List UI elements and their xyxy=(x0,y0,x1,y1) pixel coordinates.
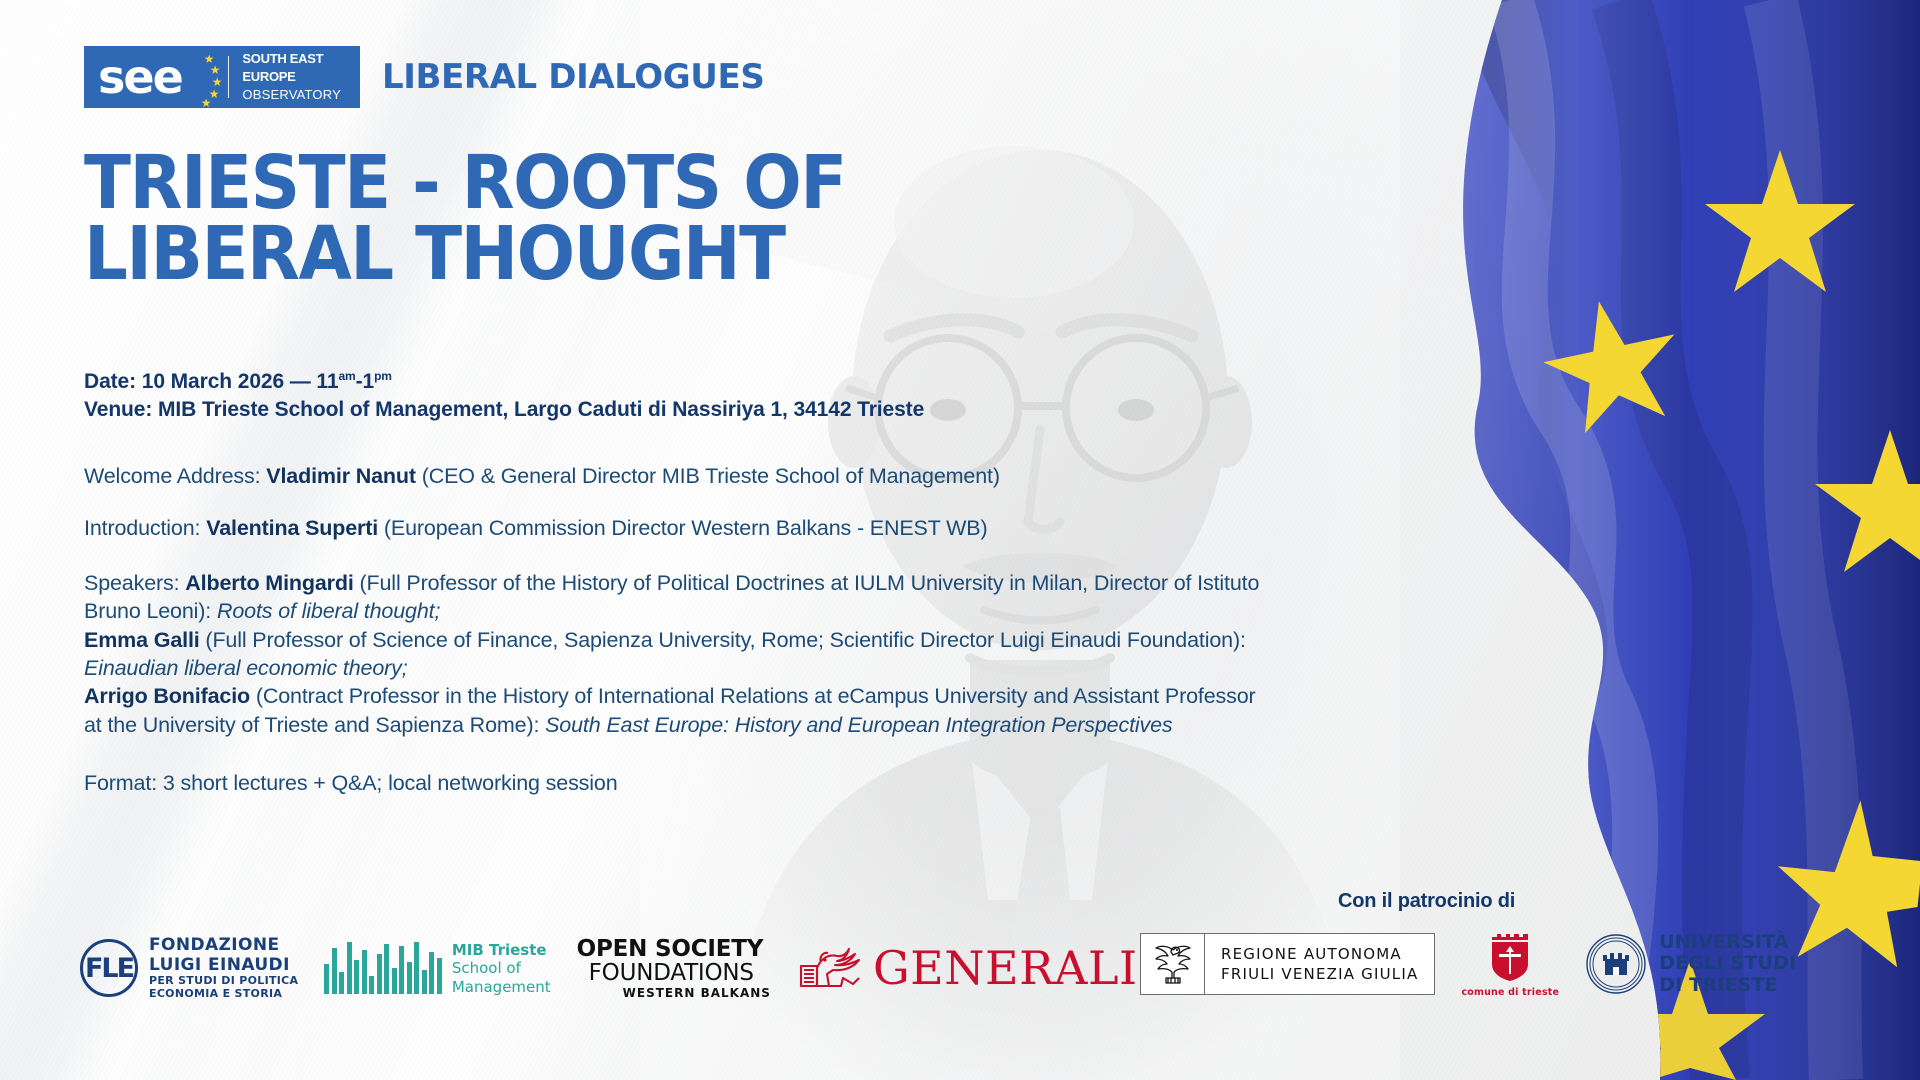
logo-divider xyxy=(228,56,230,98)
date-value: 10 March 2026 — 11 xyxy=(142,370,339,393)
intro-label: Introduction: xyxy=(84,516,206,540)
speaker-1-topic: Roots of liberal thought; xyxy=(217,599,440,623)
event-meta: Date: 10 March 2026 — 11am-1pm Venue: MI… xyxy=(84,368,924,423)
page-title: TRIESTE - ROOTS OF LIBERAL THOUGHT xyxy=(84,148,846,290)
welcome-speaker-name: Vladimir Nanut xyxy=(266,464,416,488)
mib-line3: Management xyxy=(452,978,551,996)
generali-logo: GENERALI xyxy=(797,941,1138,995)
patronage-logos: REGIONE AUTONOMA FRIULI VENEZIA GIULIA c… xyxy=(1140,930,1796,998)
mib-bars-icon xyxy=(324,942,442,994)
fle-line4: ECONOMIA E STORIA xyxy=(149,988,298,1001)
mib-trieste-logo: MIB Trieste School of Management xyxy=(324,941,550,996)
mib-line2: School of xyxy=(452,959,551,977)
see-subtitle-line1: SOUTH EAST EUROPE xyxy=(242,51,323,84)
speakers-label: Speakers: xyxy=(84,571,185,595)
title-line-2: LIBERAL THOUGHT xyxy=(84,219,846,290)
universita-wordmark: UNIVERSITÀ DEGLI STUDI DI TRIESTE xyxy=(1659,932,1796,997)
see-subtitle-line2: OBSERVATORY xyxy=(242,87,341,102)
welcome-speaker-role: (CEO & General Director MIB Trieste Scho… xyxy=(416,464,1000,488)
welcome-label: Welcome Address: xyxy=(84,464,266,488)
event-format: Format: 3 short lectures + Q&A; local ne… xyxy=(84,769,1264,797)
regione-fvg-logo: REGIONE AUTONOMA FRIULI VENEZIA GIULIA xyxy=(1140,933,1435,995)
poster-header: see ★ ★ ★ ★ ★ SOUTH EAST EUROPE OBSERVAT… xyxy=(84,46,764,108)
speakers-block: Speakers: Alberto Mingardi (Full Profess… xyxy=(84,569,1264,739)
date-mid: -1 xyxy=(356,370,374,393)
universita-line2: DEGLI STUDI xyxy=(1659,953,1796,975)
title-line-1: TRIESTE - ROOTS OF xyxy=(84,148,846,219)
fle-wordmark: FONDAZIONE LUIGI EINAUDI PER STUDI DI PO… xyxy=(149,936,298,1001)
welcome-address-line: Welcome Address: Vladimir Nanut (CEO & G… xyxy=(84,462,1264,490)
regione-wordmark: REGIONE AUTONOMA FRIULI VENEZIA GIULIA xyxy=(1205,934,1434,994)
fle-monogram-icon: FLE xyxy=(80,939,138,997)
generali-wordmark: GENERALI xyxy=(873,941,1138,995)
event-date: Date: 10 March 2026 — 11am-1pm xyxy=(84,368,924,396)
universita-trieste-logo: UNIVERSITÀ DEGLI STUDI DI TRIESTE xyxy=(1585,932,1796,997)
event-program: Welcome Address: Vladimir Nanut (CEO & G… xyxy=(84,462,1264,797)
open-society-foundations-logo: OPEN SOCIETY FOUNDATIONS WESTERN BALKANS xyxy=(577,937,771,1000)
universita-line3: DI TRIESTE xyxy=(1659,975,1796,997)
patronage-label: Con il patrocinio di xyxy=(1338,890,1515,913)
speaker-2-role: (Full Professor of Science of Finance, S… xyxy=(200,628,1246,652)
eu-stars-icon: ★ ★ ★ ★ ★ xyxy=(192,49,215,105)
mib-wordmark: MIB Trieste School of Management xyxy=(452,941,551,996)
regione-line1: REGIONE AUTONOMA xyxy=(1221,944,1418,964)
regione-line2: FRIULI VENEZIA GIULIA xyxy=(1221,964,1418,984)
series-title: LIBERAL DIALOGUES xyxy=(382,57,764,97)
speaker-2-topic: Einaudian liberal economic theory; xyxy=(84,656,408,680)
poster-canvas: see ★ ★ ★ ★ ★ SOUTH EAST EUROPE OBSERVAT… xyxy=(0,0,1920,1080)
speaker-2-name: Emma Galli xyxy=(84,628,200,652)
halberd-shield-icon xyxy=(1488,930,1532,982)
venue-label: Venue: xyxy=(84,398,152,421)
date-label: Date: xyxy=(84,370,136,393)
osf-line2: FOUNDATIONS xyxy=(577,961,771,985)
comune-di-trieste-logo: comune di trieste xyxy=(1461,930,1559,998)
date-sup-pm: pm xyxy=(374,369,392,383)
see-observatory-logo: see ★ ★ ★ ★ ★ SOUTH EAST EUROPE OBSERVAT… xyxy=(84,46,360,108)
university-seal-icon xyxy=(1585,933,1647,995)
speaker-3-name: Arrigo Bonifacio xyxy=(84,684,250,708)
speaker-1-name: Alberto Mingardi xyxy=(185,571,353,595)
see-logo-wordmark: see xyxy=(98,54,182,100)
date-sup-am: am xyxy=(338,369,355,383)
mib-line1: MIB Trieste xyxy=(452,941,551,959)
intro-speaker-role: (European Commission Director Western Ba… xyxy=(378,516,987,540)
intro-speaker-name: Valentina Superti xyxy=(206,516,378,540)
universita-line1: UNIVERSITÀ xyxy=(1659,932,1796,954)
eu-flag xyxy=(1360,0,1920,1080)
sponsor-logos: FLE FONDAZIONE LUIGI EINAUDI PER STUDI D… xyxy=(80,936,1138,1001)
winged-lion-icon xyxy=(797,944,863,992)
comune-label: comune di trieste xyxy=(1461,987,1559,998)
see-logo-subtitle: SOUTH EAST EUROPE OBSERVATORY xyxy=(242,50,348,104)
speaker-3-topic: South East Europe: History and European … xyxy=(545,713,1172,737)
fle-line1: FONDAZIONE xyxy=(149,936,298,956)
eagle-icon xyxy=(1141,934,1205,994)
introduction-line: Introduction: Valentina Superti (Europea… xyxy=(84,514,1264,542)
venue-value: MIB Trieste School of Management, Largo … xyxy=(158,398,924,421)
osf-line1: OPEN SOCIETY xyxy=(577,937,771,961)
fondazione-luigi-einaudi-logo: FLE FONDAZIONE LUIGI EINAUDI PER STUDI D… xyxy=(80,936,298,1001)
event-venue: Venue: MIB Trieste School of Management,… xyxy=(84,396,924,424)
osf-line3: WESTERN BALKANS xyxy=(577,985,771,1000)
fle-line2: LUIGI EINAUDI xyxy=(149,956,298,976)
